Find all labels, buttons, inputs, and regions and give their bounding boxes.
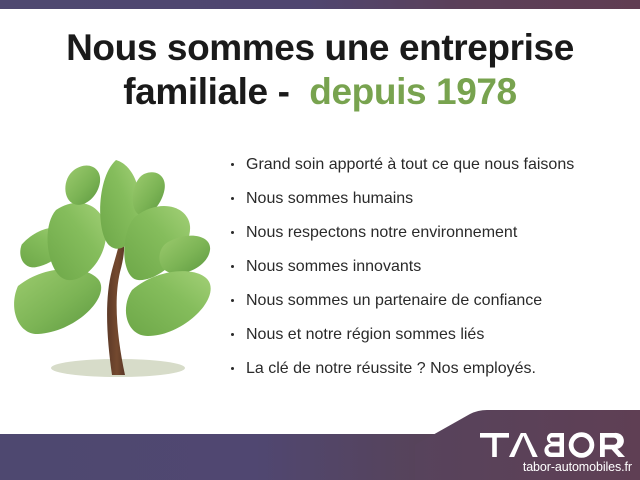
- footer-logo-panel: [415, 405, 640, 480]
- list-item-label: Nous et notre région sommes liés: [246, 326, 484, 343]
- list-item-label: La clé de notre réussite ? Nos employés.: [246, 360, 536, 377]
- slide-canvas: Nous sommes une entreprise familiale - d…: [0, 0, 640, 480]
- list-item: Nous sommes un partenaire de confiance: [229, 284, 629, 318]
- list-item: Nous sommes innovants: [229, 250, 629, 284]
- list-item: Grand soin apporté à tout ce que nous fa…: [229, 148, 629, 182]
- bullet-dot-icon: [231, 231, 234, 234]
- list-item: Nous et notre région sommes liés: [229, 318, 629, 352]
- bullet-dot-icon: [231, 333, 234, 336]
- bullet-dot-icon: [231, 367, 234, 370]
- bullet-dot-icon: [231, 265, 234, 268]
- list-item-label: Nous sommes un partenaire de confiance: [246, 292, 542, 309]
- tree-illustration: [8, 150, 228, 390]
- benefits-list: Grand soin apporté à tout ce que nous fa…: [229, 148, 629, 386]
- list-item-label: Nous respectons notre environnement: [246, 224, 517, 241]
- headline-line-1: Nous sommes une entreprise: [0, 26, 640, 70]
- top-accent-bar: [0, 0, 640, 9]
- page-title: Nous sommes une entreprise familiale - d…: [0, 26, 640, 114]
- headline-line-2: familiale - depuis 1978: [0, 70, 640, 114]
- headline-line-2-main: familiale -: [123, 71, 289, 112]
- list-item: Nous respectons notre environnement: [229, 216, 629, 250]
- bullet-dot-icon: [231, 163, 234, 166]
- list-item-label: Nous sommes innovants: [246, 258, 421, 275]
- tree-trunk: [107, 228, 125, 375]
- list-item: La clé de notre réussite ? Nos employés.: [229, 352, 629, 386]
- list-item-label: Grand soin apporté à tout ce que nous fa…: [246, 156, 574, 173]
- list-item: Nous sommes humains: [229, 182, 629, 216]
- bullet-dot-icon: [231, 299, 234, 302]
- bullet-dot-icon: [231, 197, 234, 200]
- list-item-label: Nous sommes humains: [246, 190, 413, 207]
- headline-accent: depuis 1978: [309, 71, 516, 112]
